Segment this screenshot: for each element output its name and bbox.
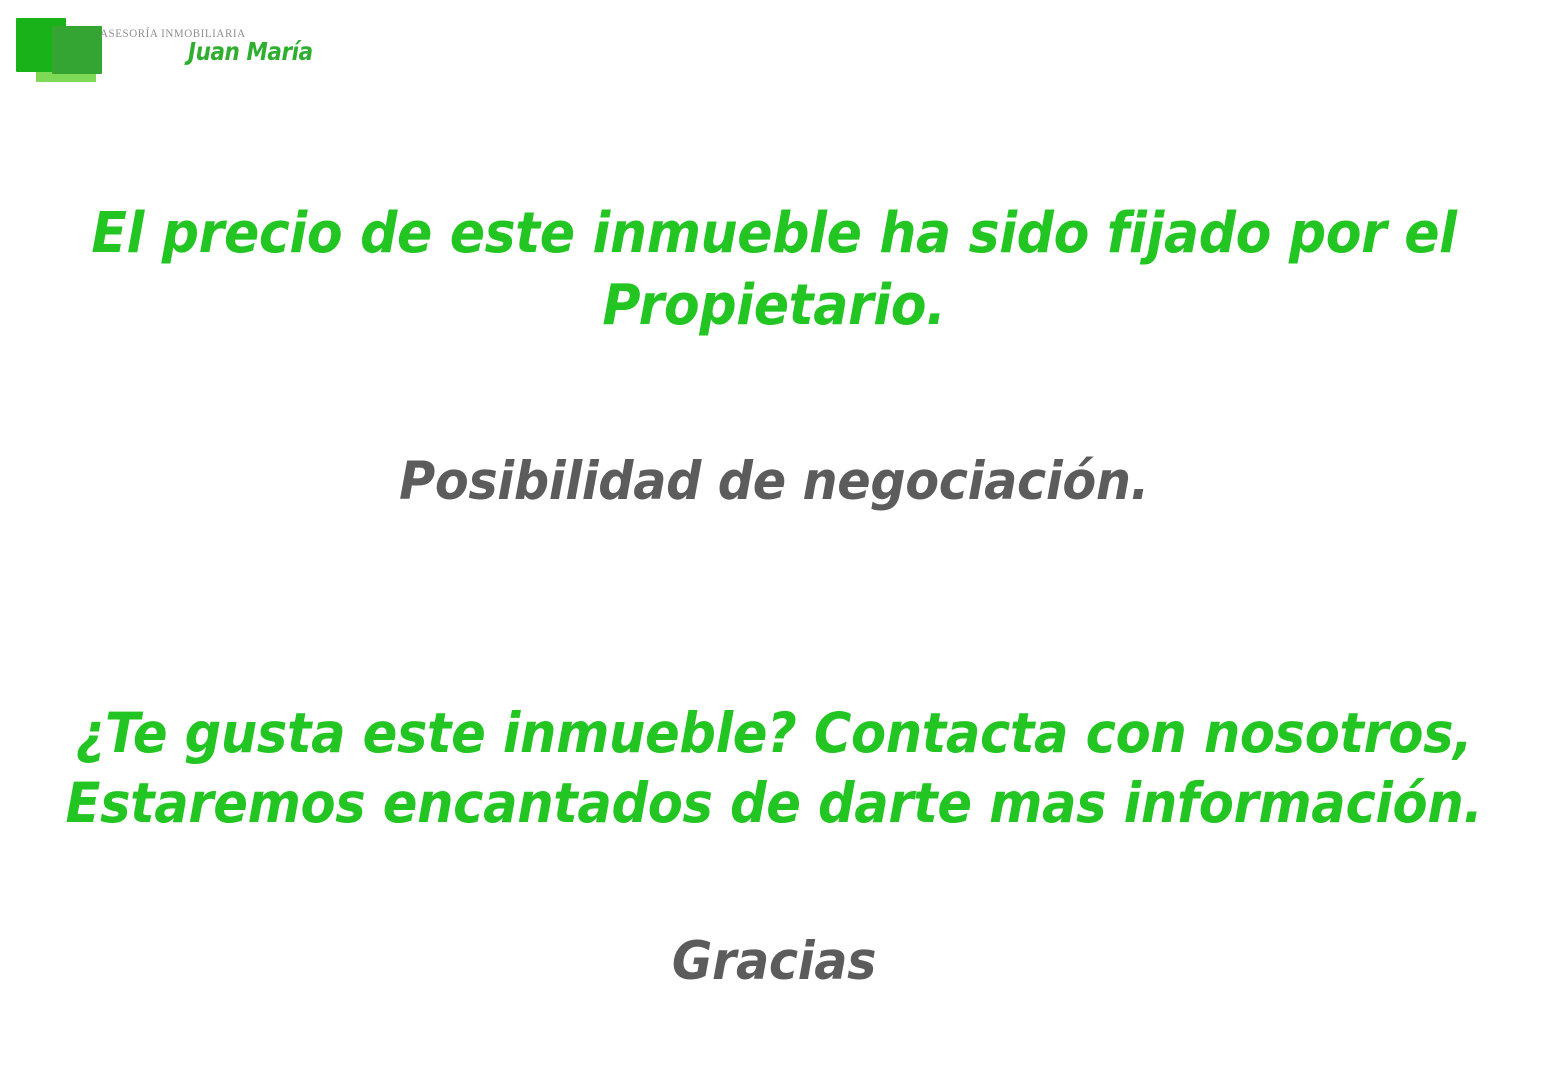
slide-canvas: ASESORÍA INMOBILIARIA Juan María El prec… [0,0,1548,1080]
logo-mark-squares [14,8,104,88]
logo-square-mid-green [52,26,102,74]
negotiation-note-text: Posibilidad de negociación. [54,448,1494,516]
thanks-text: Gracias [54,928,1494,996]
price-statement-text: El precio de este inmueble ha sido fijad… [54,198,1494,341]
company-logo: ASESORÍA INMOBILIARIA Juan María [14,8,354,88]
logo-brand-name: Juan María [188,37,313,66]
logo-wordmark: ASESORÍA INMOBILIARIA Juan María [100,26,350,82]
contact-call-text: ¿Te gusta este inmueble? Contacta con no… [54,698,1494,839]
